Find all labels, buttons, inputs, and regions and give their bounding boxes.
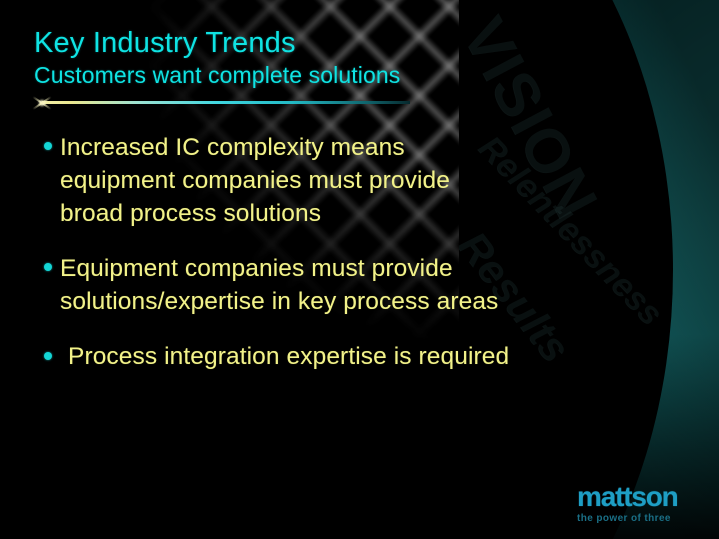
title-divider bbox=[30, 96, 410, 110]
bullet-text: Equipment companies must provide solutio… bbox=[60, 252, 600, 318]
bullet-dot-icon bbox=[44, 142, 52, 150]
logo-wordmark: mattson bbox=[577, 483, 701, 511]
title-block: Key Industry Trends Customers want compl… bbox=[34, 27, 504, 89]
company-logo: mattson the power of three bbox=[577, 483, 701, 525]
list-item: Process integration expertise is require… bbox=[40, 340, 600, 373]
divider-line bbox=[42, 101, 410, 104]
bullet-dot-icon bbox=[44, 263, 52, 271]
sparkle-icon bbox=[30, 92, 54, 114]
sparkle-core bbox=[39, 100, 45, 106]
list-item: Equipment companies must provide solutio… bbox=[40, 252, 600, 318]
list-item: Increased IC complexity means equipment … bbox=[40, 131, 600, 230]
bullet-text: Process integration expertise is require… bbox=[60, 340, 600, 373]
bullet-list: Increased IC complexity means equipment … bbox=[40, 131, 600, 373]
presentation-slide: VISION Relentlessness Results Key Indust… bbox=[0, 0, 719, 539]
slide-subtitle: Customers want complete solutions bbox=[34, 62, 504, 89]
slide-title: Key Industry Trends bbox=[34, 27, 504, 60]
bullet-dot-icon bbox=[44, 352, 52, 360]
logo-tagline: the power of three bbox=[577, 512, 701, 525]
bullet-text: Increased IC complexity means equipment … bbox=[60, 131, 600, 230]
